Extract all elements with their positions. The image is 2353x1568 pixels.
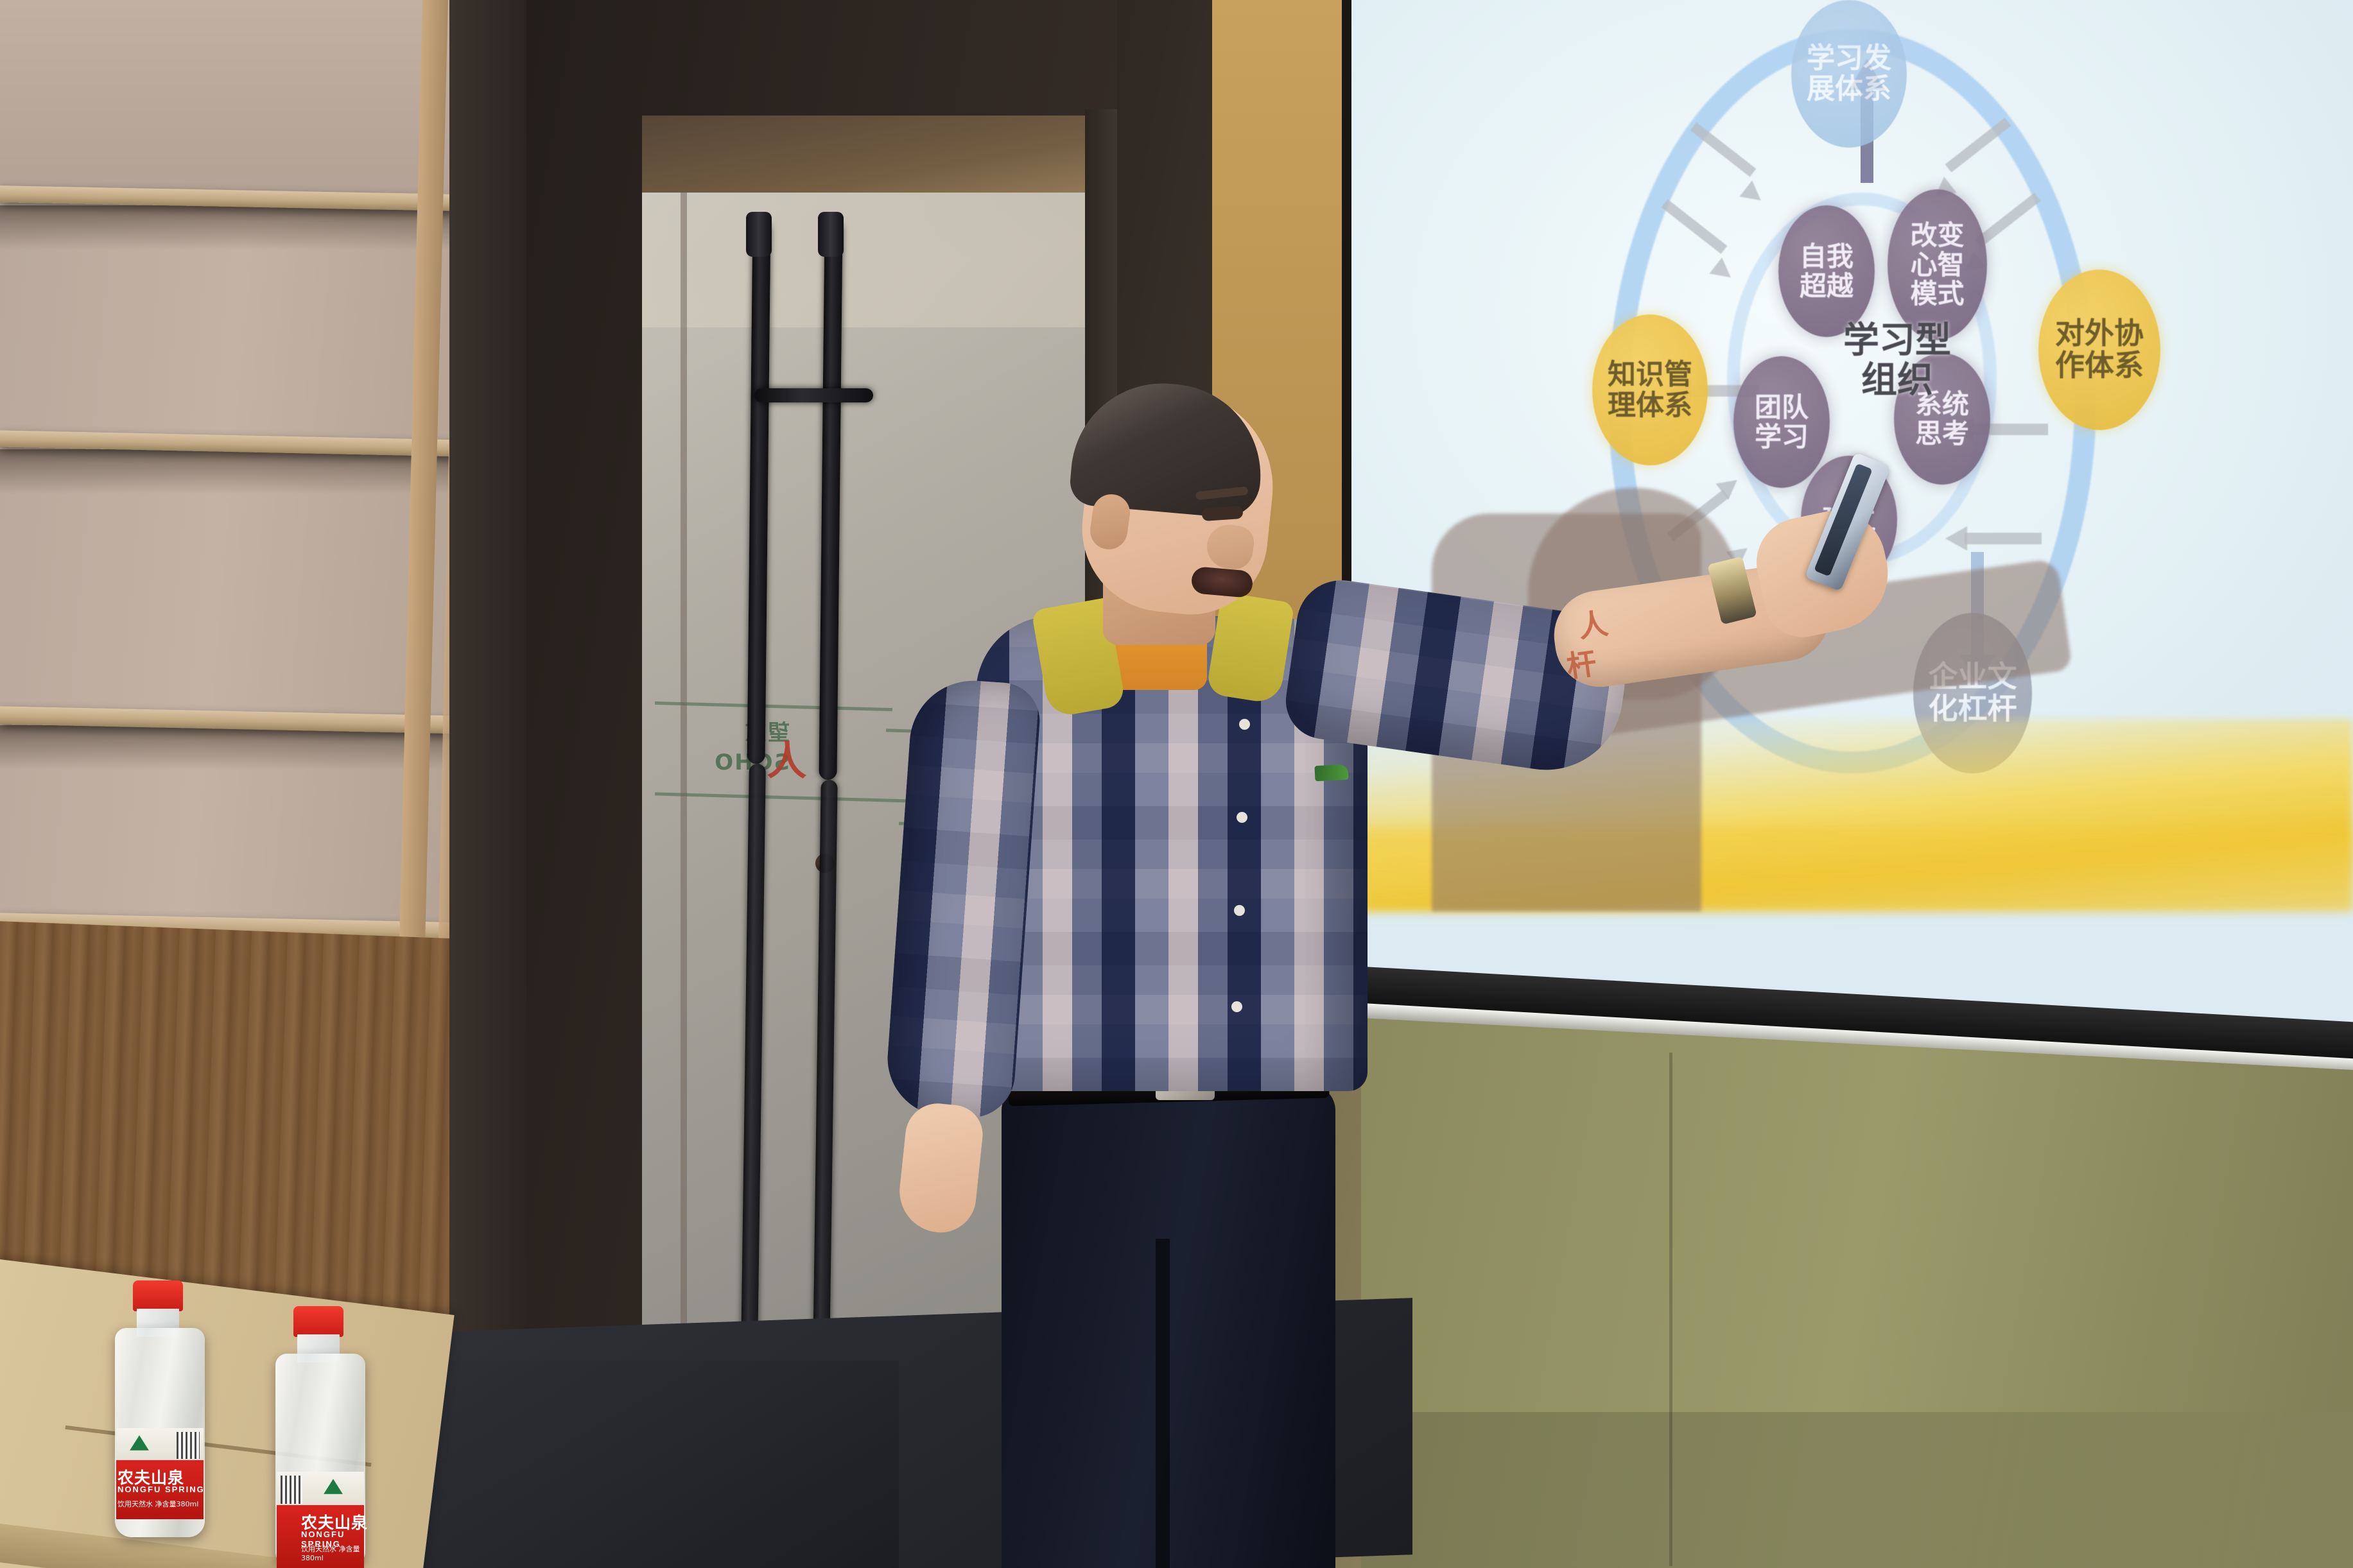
door-handle-left-knob [746, 212, 772, 257]
bubble-line-1: 对外协 [2055, 316, 2144, 350]
door-handle-right-knob [818, 212, 844, 257]
diagram-bubble-self-transcendence[interactable]: 自我 超越 [1778, 205, 1875, 337]
bottle-back-pine-logo [324, 1479, 343, 1494]
bottle-back-barcode [281, 1476, 302, 1504]
diagram-arrow-r-2-head [1945, 526, 1967, 551]
shelf-cavity-2-shadow [0, 449, 456, 494]
diagram-bubble-learning-development-system[interactable]: 学习发 展体系 [1791, 0, 1907, 148]
diagram-bubble-team-learning[interactable]: 团队 学习 [1733, 356, 1830, 488]
glass-etch-accent: 人 [767, 728, 807, 786]
shelf-cavity-1-shadow [0, 205, 449, 250]
bubble-line-2: 理体系 [1608, 389, 1692, 422]
shirt-button-2 [1237, 812, 1247, 823]
presenter-leg-gap [1156, 1239, 1170, 1568]
bottle-front-brand-en: NONGFU SPRING [117, 1485, 205, 1494]
bottle-front[interactable]: 农夫山泉 NONGFU SPRING 饮用天然水 净含量380ml [112, 1280, 207, 1537]
diagram-bubble-external-collaboration-system[interactable]: 对外协 作体系 [2038, 270, 2160, 430]
center-label-line-1: 学习型 [1823, 321, 1971, 361]
bubble-line-2: 心智 [1910, 249, 1964, 280]
shirt-button-1 [1239, 719, 1250, 730]
shirt-button-3 [1234, 905, 1245, 916]
bubble-line-1: 知识管 [1608, 358, 1692, 391]
bubble-line-1: 改变 [1910, 220, 1964, 251]
bottle-front-pine-logo [130, 1435, 149, 1451]
bubble-line-2: 展体系 [1807, 73, 1891, 105]
scene-root: 望京SOHO 望京SOHO 人 [0, 0, 2353, 1568]
bubble-line-1: 自我 [1800, 241, 1854, 272]
bottle-back-cap [293, 1306, 343, 1337]
bubble-line-1: 团队 [1755, 392, 1809, 423]
bottle-back[interactable]: 农夫山泉 NONGFU SPRING 饮用天然水 净含量380ml [273, 1306, 368, 1568]
bottle-front-barcode [177, 1432, 200, 1459]
bubble-line-2: 作体系 [2055, 348, 2144, 383]
bubble-line-3: 模式 [1910, 278, 1964, 309]
shelf-cavity-1 [0, 0, 449, 193]
diagram-arrow-r-2 [1965, 533, 2042, 544]
lower-wall-seam [1669, 1053, 1672, 1566]
diagram-bubble-change-mental-models[interactable]: 改变 心智 模式 [1888, 189, 1987, 340]
bubble-line-2: 思考 [1915, 418, 1969, 449]
diagram-center-label: 学习型 组织 [1823, 321, 1971, 400]
center-label-line-2: 组织 [1823, 361, 1971, 401]
diagram-bubble-knowledge-management-system[interactable]: 知识管 理体系 [1592, 314, 1708, 465]
door-lock-bar[interactable] [754, 388, 873, 402]
door-mullion-vertical [681, 193, 687, 1418]
bubble-line-2: 学习 [1755, 421, 1809, 452]
crocodile-logo [1314, 764, 1348, 782]
bottle-back-sub-text: 饮用天然水 净含量380ml [301, 1544, 365, 1562]
lower-wall-olive-shadow [1348, 1412, 2353, 1568]
bubble-line-2: 超越 [1800, 270, 1854, 302]
bubble-line-1: 学习发 [1807, 42, 1891, 74]
projected-char-on-arm-2: 杆 [1564, 640, 1599, 686]
shirt-button-4 [1231, 1001, 1242, 1012]
bottle-front-sub-text: 饮用天然水 净含量380ml [117, 1499, 201, 1509]
bottle-front-cap [133, 1280, 183, 1311]
